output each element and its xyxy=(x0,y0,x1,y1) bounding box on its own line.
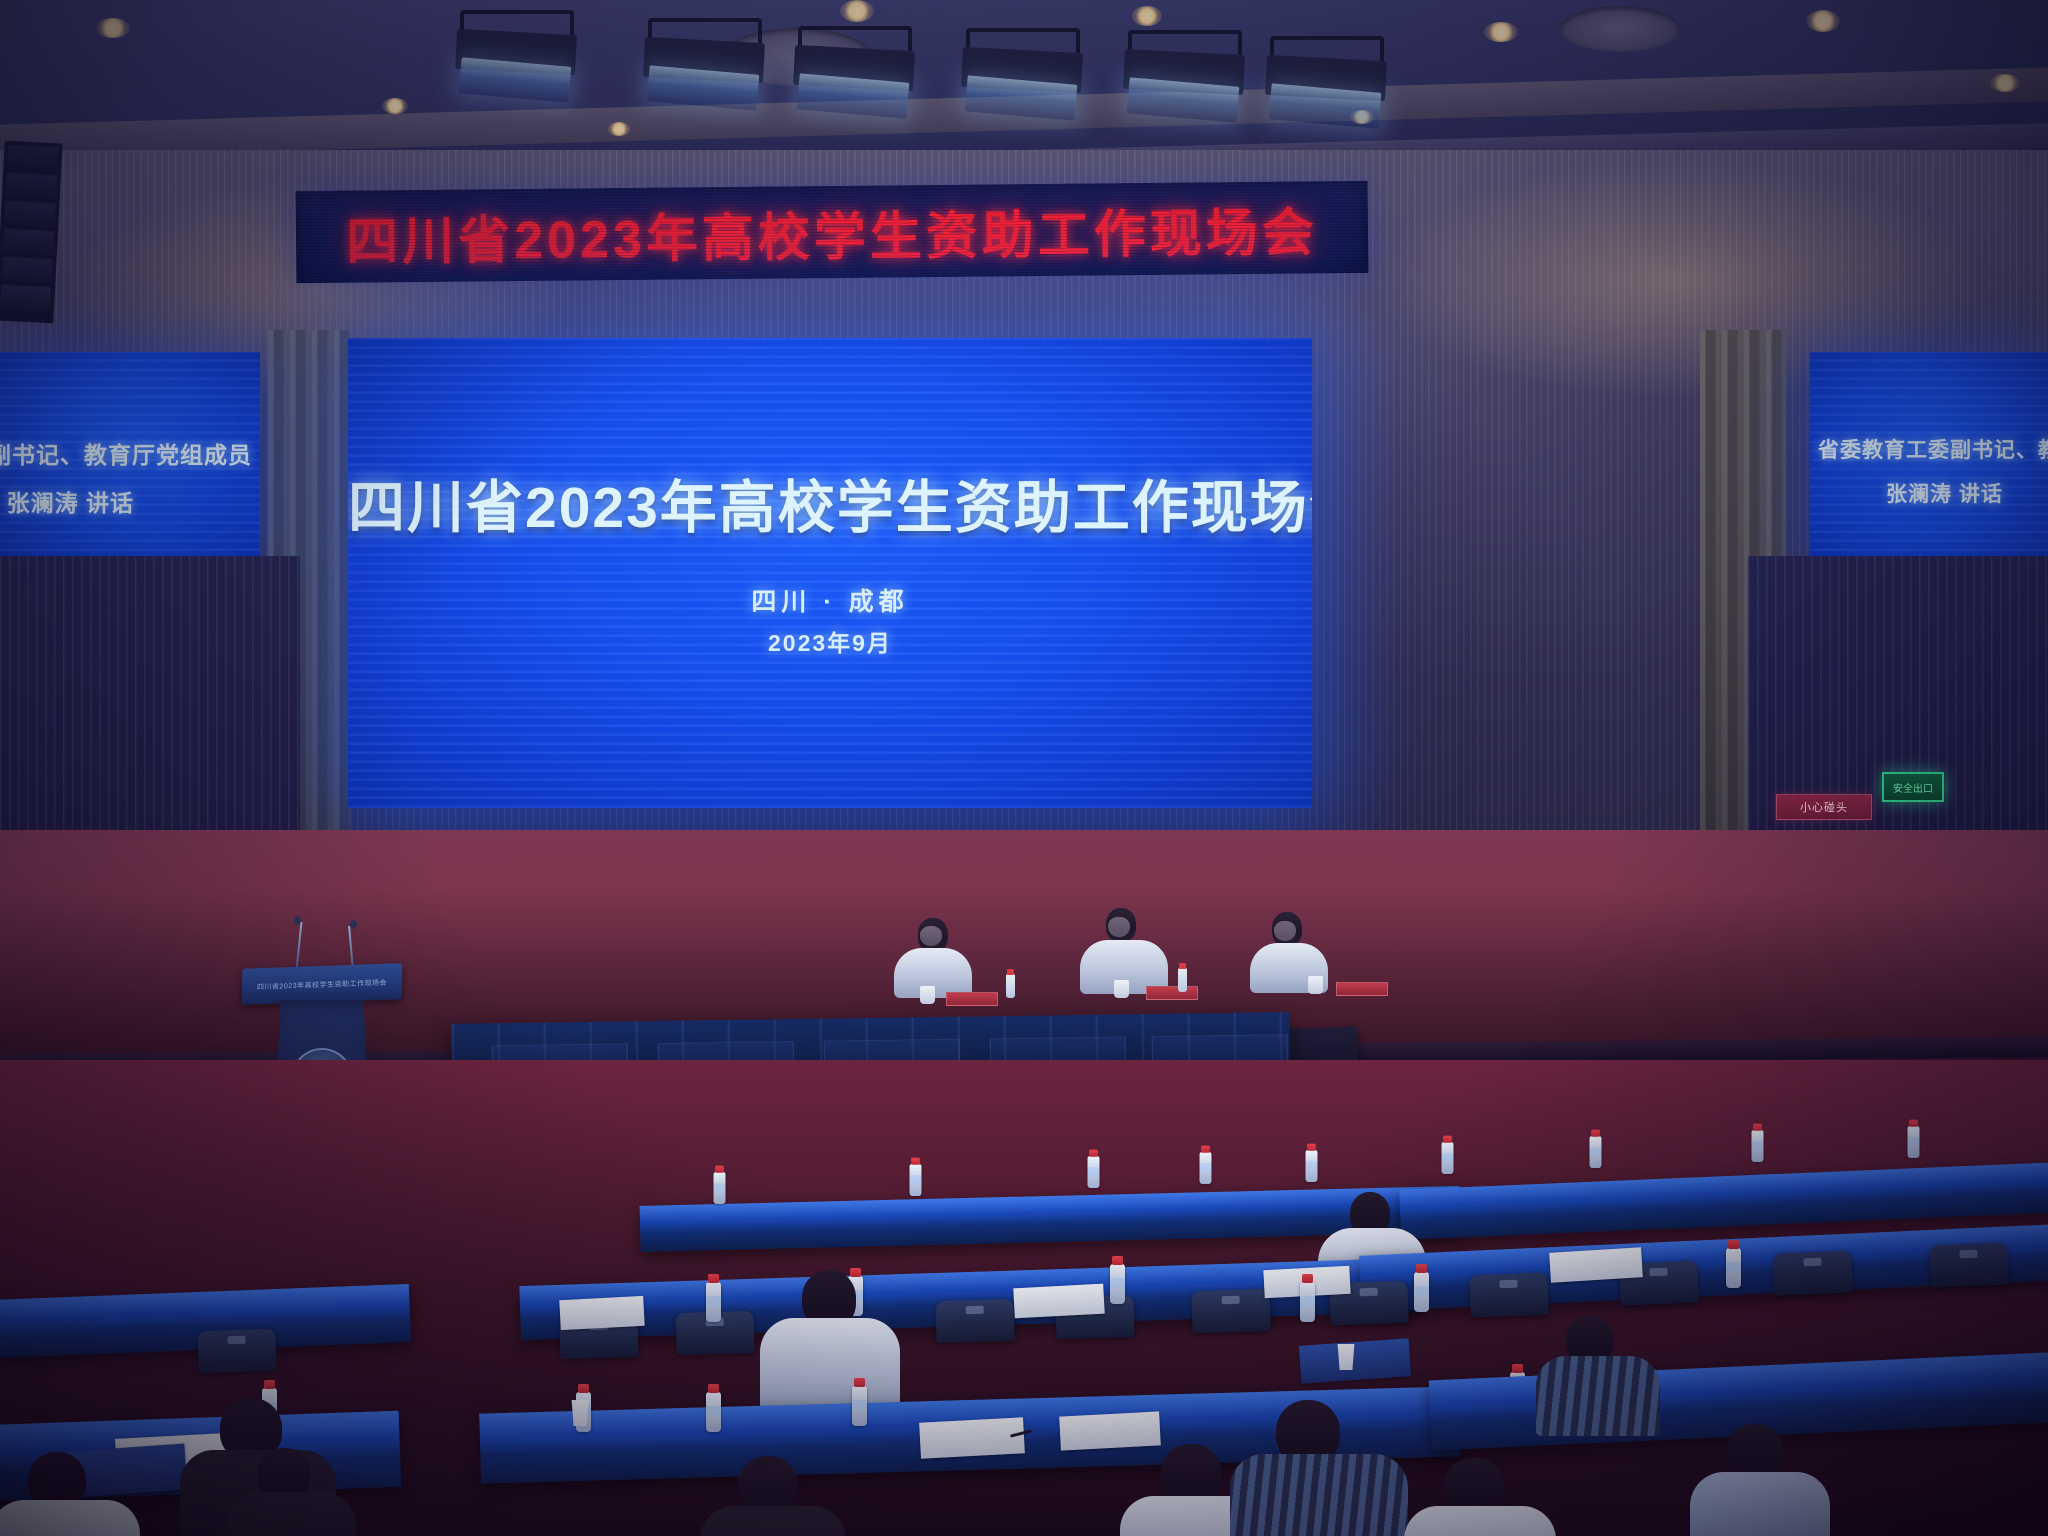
audience-seat[interactable] xyxy=(1191,1289,1270,1333)
screen-subtitle-date: 2023年9月 xyxy=(348,624,1312,658)
led-banner-text: 四川省2023年高校学生资助工作现场会 xyxy=(346,190,1318,274)
water-bottle xyxy=(852,1386,867,1426)
attendee-torso xyxy=(1230,1454,1408,1536)
side-projection-screen-left: 副书记、教育厅党组成员 张澜涛 讲话 xyxy=(0,352,260,560)
attendee-torso xyxy=(760,1318,900,1414)
ceiling-downlight xyxy=(96,18,130,38)
side-screen-left-line1: 副书记、教育厅党组成员 xyxy=(0,436,252,470)
side-projection-screen-right: 省委教育工委副书记、教 张澜涛 讲话 xyxy=(1810,352,2048,560)
ceiling-downlight xyxy=(608,122,630,136)
document-paper xyxy=(919,1417,1025,1458)
attendee-torso xyxy=(1404,1506,1556,1536)
water-bottle xyxy=(1442,1142,1454,1174)
speaker-cell xyxy=(3,229,54,258)
screen-subtitle-location: 四川 · 成都 xyxy=(348,582,1312,618)
water-bottle xyxy=(1908,1126,1920,1158)
water-bottle xyxy=(1200,1152,1212,1184)
water-bottle xyxy=(1088,1156,1100,1188)
microphone-head xyxy=(294,916,301,925)
stage-spotlight xyxy=(1262,36,1392,131)
water-bottle xyxy=(1752,1130,1764,1162)
line-array-speaker xyxy=(0,141,63,324)
document-paper xyxy=(1013,1284,1104,1319)
podium-banner-text: 四川省2023年高校学生资助工作现场会 xyxy=(242,977,402,993)
water-bottle xyxy=(706,1282,721,1322)
speaker-cell xyxy=(6,173,57,202)
audience-seat[interactable] xyxy=(1469,1273,1549,1318)
side-screen-left-line2: 张澜涛 讲话 xyxy=(7,484,134,518)
microphone-head xyxy=(350,920,357,929)
podium-top-panel: 四川省2023年高校学生资助工作现场会 xyxy=(242,963,403,1005)
stage-spotlight xyxy=(790,26,920,121)
water-bottle xyxy=(706,1392,721,1432)
ceiling-downlight xyxy=(382,98,408,114)
recessed-ceiling-vent xyxy=(1560,6,1680,52)
side-screen-right-line2: 张澜涛 讲话 xyxy=(1886,478,2003,508)
speaker-cell xyxy=(7,145,58,174)
nameplate xyxy=(946,992,998,1006)
tea-mug xyxy=(1308,976,1323,994)
water-bottle xyxy=(1306,1150,1318,1182)
ceiling-downlight xyxy=(1132,6,1162,26)
water-bottle xyxy=(1590,1136,1602,1168)
water-bottle xyxy=(1726,1248,1741,1288)
attendee-torso xyxy=(1536,1356,1660,1436)
attendee-torso xyxy=(700,1506,846,1536)
caution-sign-right: 小心碰头 xyxy=(1776,794,1872,820)
stage-spotlight xyxy=(958,28,1088,123)
tea-mug xyxy=(1114,980,1129,998)
water-bottle xyxy=(714,1172,726,1204)
speaker-cell xyxy=(0,285,51,314)
occupant-face xyxy=(1274,921,1296,941)
side-screen-right-line1: 省委教育工委副书记、教 xyxy=(1818,434,2048,464)
nameplate xyxy=(1146,986,1198,1000)
screen-scanline-texture xyxy=(348,338,1312,808)
ceiling xyxy=(0,0,2048,175)
water-bottle xyxy=(910,1164,922,1196)
ceiling-downlight xyxy=(1484,22,1518,42)
stage-spotlight xyxy=(640,18,770,113)
attendee-torso xyxy=(1690,1472,1830,1536)
ceiling-downlight xyxy=(1806,10,1840,32)
audience-seat[interactable] xyxy=(935,1299,1014,1343)
screen-title: 四川省2023年高校学生资助工作现场会 xyxy=(348,462,1312,544)
document-paper xyxy=(559,1296,644,1330)
speaker-cell xyxy=(1,257,52,286)
ceiling-downlight xyxy=(840,0,874,22)
nameplate xyxy=(1336,982,1388,996)
water-bottle xyxy=(1178,968,1187,992)
audience-seat[interactable] xyxy=(1929,1242,2009,1287)
main-projection-screen: 四川省2023年高校学生资助工作现场会 四川 · 成都 2023年9月 xyxy=(348,338,1312,808)
water-bottle xyxy=(1006,974,1015,998)
conference-booklet xyxy=(1299,1338,1411,1384)
ceiling-downlight xyxy=(1990,74,2020,92)
attendee-torso xyxy=(0,1500,140,1536)
audience-seat[interactable] xyxy=(1773,1250,1853,1295)
water-bottle xyxy=(1300,1282,1315,1322)
exit-sign: 安全出口 xyxy=(1882,772,1944,802)
document-paper xyxy=(1059,1411,1161,1450)
led-banner: 四川省2023年高校学生资助工作现场会 xyxy=(296,181,1369,283)
water-bottle xyxy=(1110,1264,1125,1304)
speaker-cell xyxy=(4,201,55,230)
audience-seat[interactable] xyxy=(197,1329,276,1374)
document-paper xyxy=(1549,1247,1643,1283)
stage-spotlight xyxy=(1120,30,1250,125)
conference-hall-photo: 四川省2023年高校学生资助工作现场会 副书记、教育厅党组成员 张澜涛 讲话 省… xyxy=(0,0,2048,1536)
water-bottle xyxy=(1414,1272,1429,1312)
occupant-face xyxy=(1108,917,1130,937)
tea-mug xyxy=(920,986,935,1004)
attendee-torso xyxy=(226,1492,356,1536)
stage-spotlight xyxy=(452,10,582,105)
occupant-face xyxy=(920,926,942,946)
